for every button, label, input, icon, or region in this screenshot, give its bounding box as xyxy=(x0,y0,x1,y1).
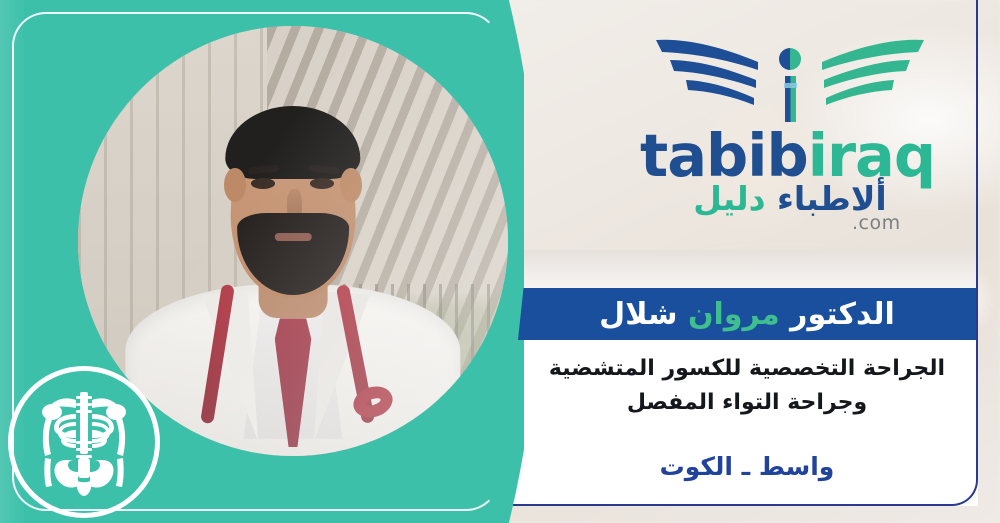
doctor-specialty: الجراحة التخصصية للكسور المتشضية وجراحة … xyxy=(518,352,976,420)
doctor-title: الدكتور xyxy=(790,297,895,332)
skeleton-badge xyxy=(8,366,160,518)
logo-tagline: ألاطباء دليل xyxy=(640,182,940,215)
winged-caduceus-icon xyxy=(654,26,926,122)
tagline-word-doctors: ألاطباء xyxy=(777,179,887,218)
tagline-word-directory: دليل xyxy=(693,179,765,218)
specialty-line-2: وجراحة التواء المفصل xyxy=(518,386,976,420)
doctor-profile-card: tabibiraq .com ألاطباء دليل الدكتور مروا… xyxy=(0,0,1000,523)
skeleton-icon xyxy=(32,386,136,498)
brand-logo[interactable]: tabibiraq .com ألاطباء دليل xyxy=(640,26,940,231)
panel-top-shade xyxy=(520,250,978,290)
specialty-line-1: الجراحة التخصصية للكسور المتشضية xyxy=(518,352,976,386)
logo-wordmark: tabibiraq .com xyxy=(640,126,940,185)
doctor-location: واسط ـ الكوت xyxy=(518,452,976,481)
doctor-first-name: مروان xyxy=(688,297,780,332)
doctor-last-name: شلال xyxy=(599,297,677,332)
doctor-name: الدكتور مروان شلال xyxy=(599,297,895,332)
doctor-name-banner: الدكتور مروان شلال xyxy=(518,288,976,340)
